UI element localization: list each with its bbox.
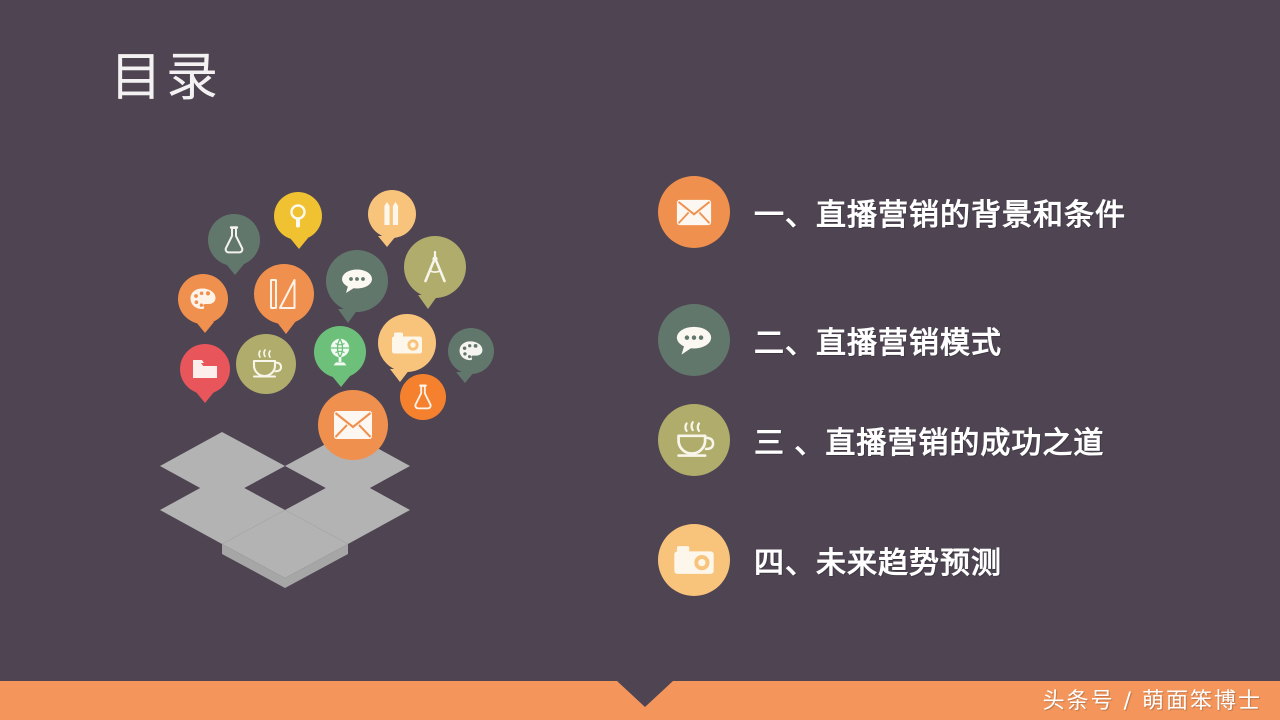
bubble-tail — [338, 309, 358, 323]
bubble-flask-2 — [400, 374, 446, 420]
bubble-camera — [378, 314, 436, 372]
chat-bubble-icon — [658, 304, 730, 376]
bubble-chat — [326, 250, 388, 312]
icon-cloud-illustration — [150, 178, 530, 598]
bubble-rulers — [254, 264, 314, 324]
slide-canvas: 目录 — [0, 0, 1280, 720]
bubble-tail — [276, 321, 296, 334]
bubble-tail — [332, 376, 350, 387]
envelope-icon — [658, 176, 730, 248]
bubble-magnifier — [274, 192, 322, 240]
bubble-pencils — [368, 190, 416, 238]
footer-notch-icon — [617, 681, 673, 707]
agenda-item-label: 四、未来趋势预测 — [754, 538, 1002, 582]
bubble-globe — [314, 326, 366, 378]
footer-credit: 头条号 / 萌面笨博士 — [1043, 681, 1262, 720]
bubble-flask — [208, 214, 260, 266]
bubble-tail — [290, 238, 308, 249]
agenda-item-1[interactable]: 一、直播营销的背景和条件 — [658, 176, 1218, 248]
bubble-tail — [418, 295, 438, 309]
bubble-folder — [180, 344, 230, 394]
coffee-cup-icon — [658, 404, 730, 476]
page-title: 目录 — [110, 52, 222, 104]
bubble-compass — [404, 236, 466, 298]
bubble-tail — [378, 236, 396, 247]
bubble-palette — [178, 274, 228, 324]
camera-icon — [658, 524, 730, 596]
agenda-item-3[interactable]: 三 、直播营销的成功之道 — [658, 404, 1218, 476]
bubble-tail — [456, 372, 474, 383]
agenda-list: 一、直播营销的背景和条件 二、直播营销模式 — [658, 176, 1218, 596]
bubble-tail — [196, 392, 214, 403]
agenda-item-label: 三 、直播营销的成功之道 — [754, 418, 1104, 462]
agenda-item-label: 一、直播营销的背景和条件 — [754, 190, 1126, 234]
agenda-item-2[interactable]: 二、直播营销模式 — [658, 304, 1218, 376]
bubble-coffee — [236, 334, 296, 394]
agenda-item-4[interactable]: 四、未来趋势预测 — [658, 524, 1218, 596]
agenda-item-label: 二、直播营销模式 — [754, 318, 1002, 362]
bubble-tail — [226, 264, 244, 275]
footer-bar: 头条号 / 萌面笨博士 — [0, 681, 1280, 720]
bubble-envelope-main — [318, 390, 388, 460]
bubble-palette-2 — [448, 328, 494, 374]
bubble-tail — [196, 322, 214, 333]
